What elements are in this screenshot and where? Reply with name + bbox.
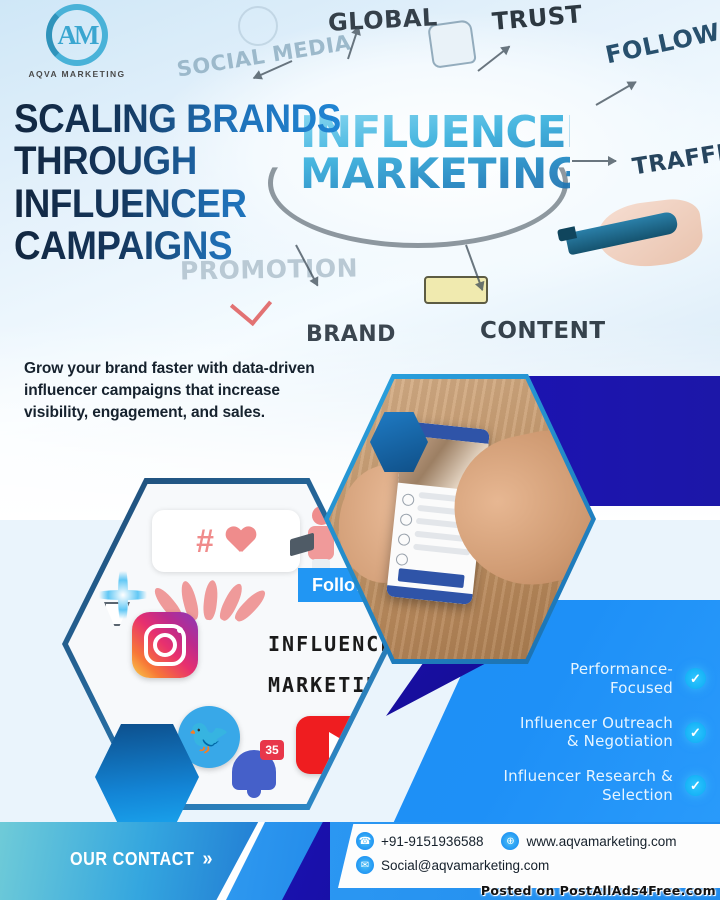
check-badge-icon: ✓ [685,775,706,796]
feature-text-research: Influencer Research & Selection [503,767,673,805]
logo-monogram: AM [46,4,108,66]
headline-line-2: THROUGH [14,140,345,182]
contact-phone[interactable]: ☎ +91-9151936588 [356,832,483,850]
collage-influencer-marketing-text: INFLUENCER MARKETING [268,624,386,706]
contact-row-1: ☎ +91-9151936588 ⊕ www.aqvamarketing.com [356,832,677,850]
feature-research-line2: Selection [503,786,673,805]
youtube-icon[interactable] [296,716,378,774]
poster-canvas: SOCIAL MEDIA GLOBAL TRUST FOLLOWERS TRAF… [0,0,720,900]
headline-line-3: INFLUENCER [14,183,345,225]
check-badge-icon: ✓ [685,722,706,743]
people-group-doodle-icon [648,72,694,112]
bg-word-global: GLOBAL [327,3,438,37]
feature-text-performance: Performance- Focused [570,660,673,698]
feature-list: Performance- Focused ✓ Influencer Outrea… [456,660,706,821]
check-glyph: ✓ [690,779,701,792]
page-title: SCALING BRANDS THROUGH INFLUENCER CAMPAI… [14,98,345,268]
headline-line-1: SCALING BRANDS [14,98,345,140]
globe-doodle-icon [238,6,278,46]
watermark-text: Posted on PostAllAds4Free.com [481,883,716,898]
feature-outreach-line1: Influencer Outreach [520,714,673,733]
contact-email-value: Social@aqvamarketing.com [381,858,549,873]
bg-word-brand: BRAND [306,322,396,347]
feature-outreach-line2: & Negotiation [520,732,673,751]
check-glyph: ✓ [690,726,701,739]
feature-item-outreach: Influencer Outreach & Negotiation ✓ [456,714,706,752]
collage-text-line-1: INFLUENCER [268,624,386,665]
contact-website[interactable]: ⊕ www.aqvamarketing.com [501,832,676,850]
check-badge-icon: ✓ [685,668,706,689]
subheading-text: Grow your brand faster with data-driven … [24,358,344,424]
contact-email[interactable]: ✉ Social@aqvamarketing.com [356,856,549,874]
bell-badge: 35 [260,740,284,760]
feature-performance-line2: Focused [570,679,673,698]
feature-item-performance: Performance- Focused ✓ [456,660,706,698]
bg-word-content: CONTENT [480,318,606,344]
hashtag-heart-bubble: # [152,510,300,572]
headline-line-4: CAMPAIGNS [14,225,345,267]
contact-phone-value: +91-9151936588 [381,834,483,849]
hand-with-marker [566,200,706,270]
collage-text-line-2: MARKETING [268,665,386,706]
our-contact-text: OUR CONTACT [70,849,194,870]
hashtag-icon: # [196,525,214,557]
globe-icon: ⊕ [501,832,519,850]
feature-item-research: Influencer Research & Selection ✓ [456,767,706,805]
contact-website-value: www.aqvamarketing.com [526,834,676,849]
chevron-right-icon: » [203,848,214,871]
contact-row-2: ✉ Social@aqvamarketing.com [356,856,677,874]
am-circle-logo-icon: AM [46,4,108,66]
arrow-to-traffic [572,160,616,162]
phone-icon: ☎ [356,832,374,850]
check-glyph: ✓ [690,672,701,685]
logo-company-name: AQVA MARKETING [22,69,132,79]
contact-details: ☎ +91-9151936588 ⊕ www.aqvamarketing.com… [356,832,677,880]
bell-icon: 35 [228,742,280,798]
feature-text-outreach: Influencer Outreach & Negotiation [520,714,673,752]
email-icon: ✉ [356,856,374,874]
feature-performance-line1: Performance- [570,660,673,679]
sparkle-icon [90,562,156,628]
heart-icon [226,527,256,555]
our-contact-label: OUR CONTACT » [70,848,213,871]
brand-logo[interactable]: AM AQVA MARKETING [22,4,132,79]
feature-research-line1: Influencer Research & [503,767,673,786]
